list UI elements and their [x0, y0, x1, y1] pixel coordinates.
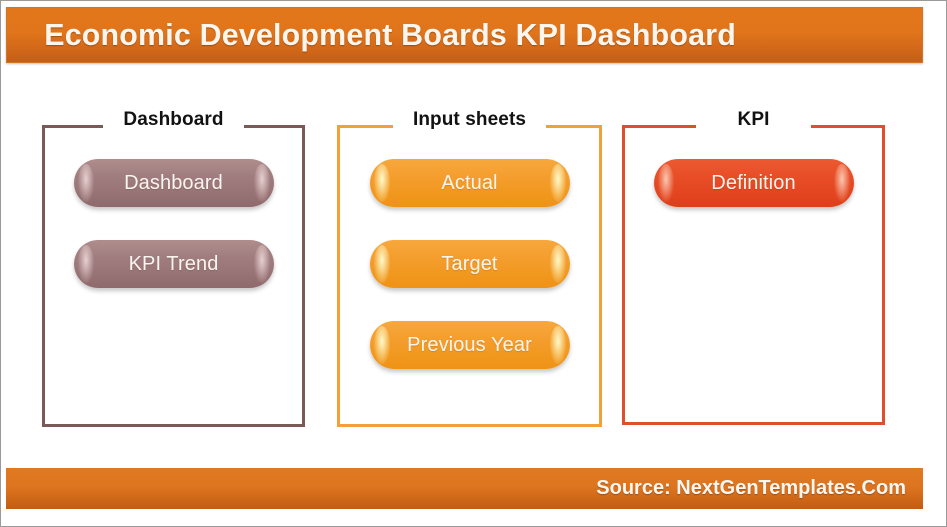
header-bar: Economic Development Boards KPI Dashboar…	[6, 7, 923, 63]
pill-target[interactable]: Target	[370, 240, 570, 288]
panel-input-sheets: Input sheets Actual Target Previous Year	[337, 109, 602, 427]
pill-previous-year[interactable]: Previous Year	[370, 321, 570, 369]
pill-definition[interactable]: Definition	[654, 159, 854, 207]
panel-input-sheets-body: Actual Target Previous Year	[337, 125, 602, 427]
page-title: Economic Development Boards KPI Dashboar…	[7, 17, 736, 53]
panel-kpi: KPI Definition	[622, 109, 885, 425]
pill-dashboard[interactable]: Dashboard	[74, 159, 274, 207]
panel-dashboard-body: Dashboard KPI Trend	[42, 125, 305, 427]
footer-bar: Source: NextGenTemplates.Com	[6, 468, 923, 509]
pill-dashboard-label: Dashboard	[124, 172, 223, 195]
pill-kpi-trend-label: KPI Trend	[129, 253, 219, 276]
panel-dashboard-title: Dashboard	[42, 109, 305, 131]
footer-source-text: Source: NextGenTemplates.Com	[596, 477, 923, 500]
pill-actual[interactable]: Actual	[370, 159, 570, 207]
pill-definition-label: Definition	[711, 172, 795, 195]
pill-target-label: Target	[441, 253, 497, 276]
pill-actual-label: Actual	[441, 172, 497, 195]
pill-kpi-trend[interactable]: KPI Trend	[74, 240, 274, 288]
panel-kpi-title: KPI	[622, 109, 885, 131]
panel-kpi-body: Definition	[622, 125, 885, 425]
pill-previous-year-label: Previous Year	[407, 334, 532, 357]
slide-canvas: Economic Development Boards KPI Dashboar…	[0, 0, 947, 527]
panel-dashboard: Dashboard Dashboard KPI Trend	[42, 109, 305, 427]
panel-input-sheets-title: Input sheets	[337, 109, 602, 131]
